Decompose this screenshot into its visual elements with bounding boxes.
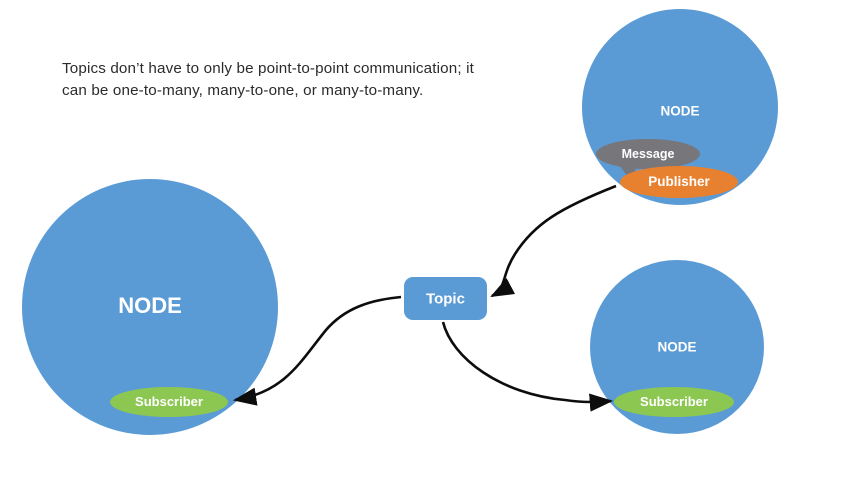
subscriber-label: Subscriber (640, 394, 708, 409)
topic-box[interactable]: Topic (404, 277, 487, 320)
publisher-label: Publisher (648, 174, 710, 189)
node-bottom-right-label: NODE (657, 340, 696, 355)
diagram-svg: NODE Subscriber NODE Message Publisher (0, 0, 854, 480)
arrow-topic-to-subscriber-bottom-right (443, 322, 611, 402)
node-top-right[interactable]: NODE Message Publisher (582, 9, 778, 205)
node-left[interactable]: NODE Subscriber (22, 179, 278, 435)
node-bottom-right[interactable]: NODE Subscriber (590, 260, 764, 434)
arrow-publisher-to-topic (492, 186, 616, 296)
node-top-right-label: NODE (660, 104, 699, 119)
node-left-label: NODE (118, 293, 182, 318)
topic-box-label: Topic (426, 290, 465, 307)
subscriber-pill-bottom-right[interactable]: Subscriber (614, 387, 734, 417)
message-label: Message (622, 147, 675, 161)
publisher-pill[interactable]: Publisher (620, 166, 738, 198)
diagram-canvas: Topics don’t have to only be point-to-po… (0, 0, 854, 480)
subscriber-label: Subscriber (135, 394, 203, 409)
subscriber-pill-left[interactable]: Subscriber (110, 387, 228, 417)
